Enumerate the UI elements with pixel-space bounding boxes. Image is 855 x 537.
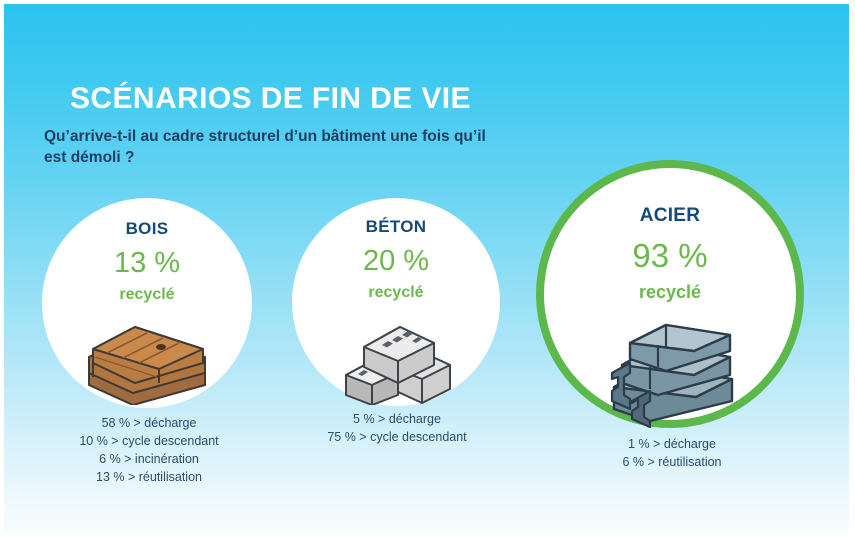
circle-beton: BÉTON 20 % recyclé bbox=[292, 198, 500, 406]
page-title: SCÉNARIOS DE FIN DE VIE bbox=[70, 82, 604, 115]
material-name-bois: BOIS bbox=[126, 220, 169, 237]
page-subtitle: Qu’arrive-t-il au cadre structurel d’un … bbox=[44, 127, 499, 169]
circle-acier: ACIER 93 % recyclé bbox=[536, 160, 804, 428]
material-name-acier: ACIER bbox=[640, 206, 701, 225]
material-card-bois: BOIS 13 % recyclé bbox=[42, 198, 256, 488]
detail-line: 75 % > cycle descendant bbox=[282, 428, 512, 446]
detail-line: 13 % > réutilisation bbox=[42, 468, 256, 486]
details-bois: 58 % > décharge 10 % > cycle descendant … bbox=[42, 414, 256, 487]
material-name-beton: BÉTON bbox=[366, 218, 427, 235]
infographic-canvas: SCÉNARIOS DE FIN DE VIE Qu’arrive-t-il a… bbox=[4, 4, 849, 533]
detail-line: 5 % > décharge bbox=[282, 410, 512, 428]
steel-beams-icon bbox=[604, 317, 736, 429]
material-card-acier: ACIER 93 % recyclé bbox=[536, 160, 808, 480]
material-card-beton: BÉTON 20 % recyclé bbox=[292, 198, 502, 488]
material-recycled-label-acier: recyclé bbox=[639, 283, 701, 301]
material-recycled-label-bois: recyclé bbox=[119, 287, 174, 303]
details-acier: 1 % > décharge 6 % > réutilisation bbox=[552, 435, 792, 471]
material-percent-bois: 13 % bbox=[114, 249, 180, 278]
material-percent-beton: 20 % bbox=[363, 247, 429, 276]
detail-line: 58 % > décharge bbox=[42, 414, 256, 432]
detail-line: 6 % > incinération bbox=[42, 450, 256, 468]
details-beton: 5 % > décharge 75 % > cycle descendant bbox=[282, 410, 512, 446]
detail-line: 6 % > réutilisation bbox=[552, 453, 792, 471]
circle-bois: BOIS 13 % recyclé bbox=[42, 198, 252, 408]
material-percent-acier: 93 % bbox=[632, 239, 707, 272]
material-recycled-label-beton: recyclé bbox=[368, 285, 423, 301]
wood-planks-icon bbox=[85, 323, 209, 405]
detail-line: 10 % > cycle descendant bbox=[42, 432, 256, 450]
header: SCÉNARIOS DE FIN DE VIE Qu’arrive-t-il a… bbox=[44, 82, 604, 169]
detail-line: 1 % > décharge bbox=[552, 435, 792, 453]
concrete-blocks-icon bbox=[340, 319, 452, 405]
